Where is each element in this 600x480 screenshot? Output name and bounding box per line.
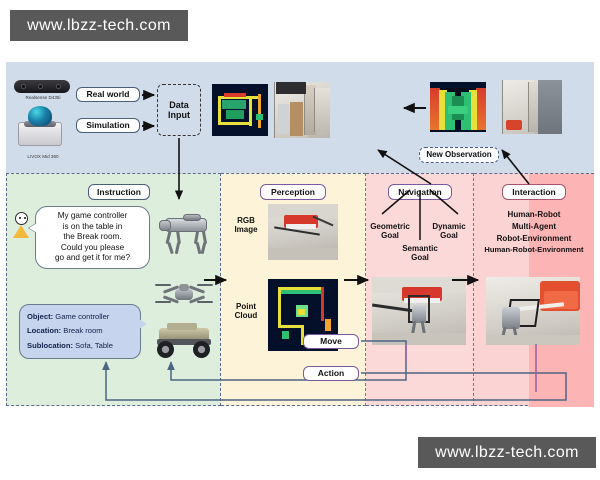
pipeline-figure: Realsense D435i LIVOX Mid 360 Real world… bbox=[6, 62, 594, 418]
watermark-bottom: www.lbzz-tech.com bbox=[418, 437, 596, 468]
watermark-top: www.lbzz-tech.com bbox=[10, 10, 188, 41]
chip-action[interactable]: Action bbox=[303, 366, 359, 381]
figure-root: www.lbzz-tech.com Realsense D435i LIVOX … bbox=[0, 0, 600, 480]
connector-arrows bbox=[6, 62, 594, 418]
chip-move[interactable]: Move bbox=[303, 334, 359, 349]
